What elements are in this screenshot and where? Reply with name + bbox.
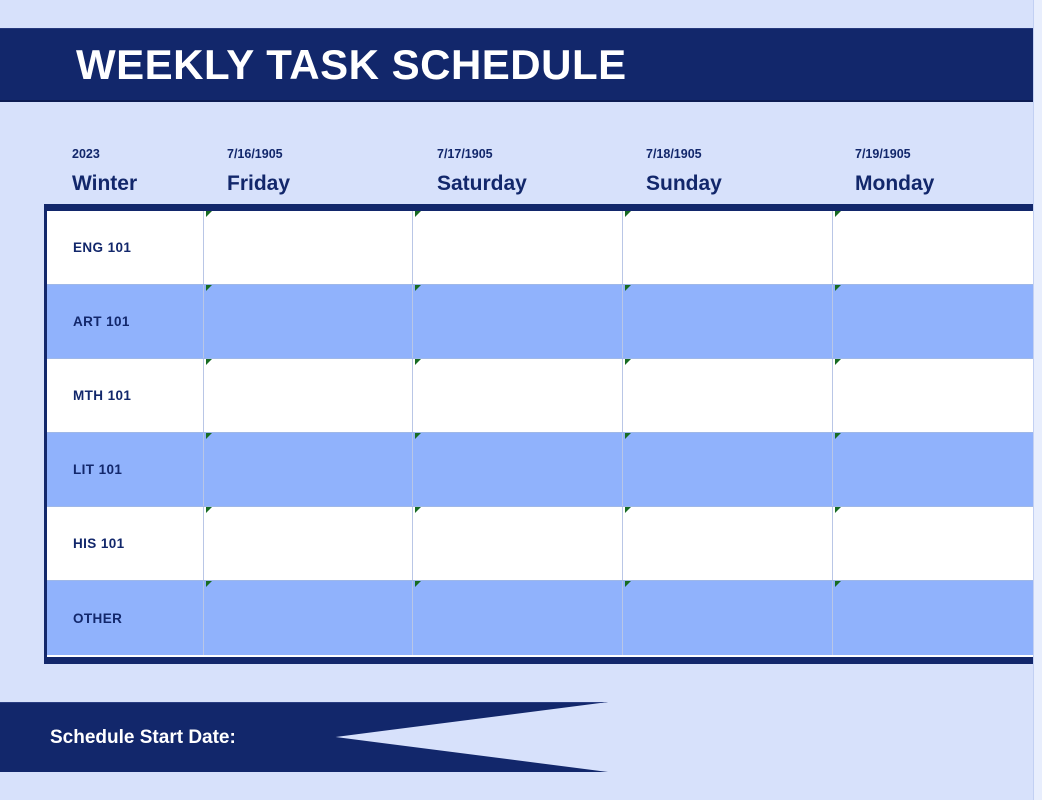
- comment-indicator-icon: [415, 359, 421, 365]
- column-header-label: Monday: [855, 161, 934, 194]
- row-label-other[interactable]: OTHER: [47, 581, 203, 655]
- column-header-sublabel: 7/16/1905: [227, 144, 290, 161]
- table-row[interactable]: HIS 101: [47, 507, 1042, 581]
- column-separator: [622, 433, 623, 506]
- row-label-eng-101[interactable]: ENG 101: [47, 211, 203, 284]
- comment-indicator-icon: [835, 581, 841, 587]
- column-separator: [832, 433, 833, 506]
- column-header-saturday: 7/17/1905Saturday: [437, 144, 527, 202]
- comment-indicator-icon: [625, 433, 631, 439]
- column-header-sublabel: 2023: [72, 144, 137, 161]
- column-separator: [203, 359, 204, 432]
- footer-ribbon: Schedule Start Date: 5/5/2023: [0, 702, 608, 772]
- column-header-label: Winter: [72, 161, 137, 194]
- column-header-row: 2023Winter7/16/1905Friday7/17/1905Saturd…: [44, 144, 1040, 202]
- row-label-mth-101[interactable]: MTH 101: [47, 359, 203, 432]
- comment-indicator-icon: [206, 507, 212, 513]
- comment-indicator-icon: [835, 359, 841, 365]
- slide-canvas: WEEKLY TASK SCHEDULE 2023Winter7/16/1905…: [0, 0, 1042, 800]
- column-separator: [203, 581, 204, 655]
- comment-indicator-icon: [415, 433, 421, 439]
- column-separator: [203, 507, 204, 580]
- column-header-winter: 2023Winter: [72, 144, 137, 202]
- schedule-table[interactable]: ENG 101ART 101MTH 101LIT 101HIS 101OTHER: [44, 204, 1042, 664]
- column-separator: [622, 507, 623, 580]
- column-separator: [622, 285, 623, 358]
- column-separator: [412, 359, 413, 432]
- column-header-label: Saturday: [437, 161, 527, 194]
- column-header-label: Friday: [227, 161, 290, 194]
- schedule-start-date-value[interactable]: 5/5/2023: [409, 727, 483, 749]
- comment-indicator-icon: [415, 581, 421, 587]
- column-header-sublabel: 7/19/1905: [855, 144, 934, 161]
- comment-indicator-icon: [415, 285, 421, 291]
- schedule-start-date-label: Schedule Start Date:: [0, 727, 236, 749]
- comment-indicator-icon: [625, 581, 631, 587]
- right-edge-strip: [1033, 0, 1042, 800]
- comment-indicator-icon: [625, 211, 631, 217]
- column-header-friday: 7/16/1905Friday: [227, 144, 290, 202]
- comment-indicator-icon: [625, 285, 631, 291]
- table-row[interactable]: ART 101: [47, 285, 1042, 359]
- column-header-monday: 7/19/1905Monday: [855, 144, 934, 202]
- column-separator: [832, 211, 833, 284]
- column-separator: [832, 359, 833, 432]
- comment-indicator-icon: [206, 211, 212, 217]
- column-header-label: Sunday: [646, 161, 722, 194]
- row-label-art-101[interactable]: ART 101: [47, 285, 203, 358]
- column-separator: [412, 433, 413, 506]
- row-label-lit-101[interactable]: LIT 101: [47, 433, 203, 506]
- column-separator: [203, 433, 204, 506]
- table-row[interactable]: MTH 101: [47, 359, 1042, 433]
- comment-indicator-icon: [206, 359, 212, 365]
- row-label-his-101[interactable]: HIS 101: [47, 507, 203, 580]
- comment-indicator-icon: [415, 211, 421, 217]
- column-separator: [622, 581, 623, 655]
- column-separator: [203, 211, 204, 284]
- comment-indicator-icon: [835, 507, 841, 513]
- comment-indicator-icon: [206, 581, 212, 587]
- comment-indicator-icon: [415, 507, 421, 513]
- column-separator: [412, 211, 413, 284]
- column-separator: [412, 507, 413, 580]
- comment-indicator-icon: [625, 507, 631, 513]
- comment-indicator-icon: [835, 285, 841, 291]
- column-separator: [832, 507, 833, 580]
- column-separator: [622, 211, 623, 284]
- comment-indicator-icon: [206, 285, 212, 291]
- column-header-sunday: 7/18/1905Sunday: [646, 144, 722, 202]
- column-header-sublabel: 7/18/1905: [646, 144, 722, 161]
- table-row[interactable]: OTHER: [47, 581, 1042, 655]
- comment-indicator-icon: [835, 211, 841, 217]
- title-banner: WEEKLY TASK SCHEDULE: [0, 28, 1034, 102]
- table-row[interactable]: LIT 101: [47, 433, 1042, 507]
- column-separator: [412, 285, 413, 358]
- comment-indicator-icon: [625, 359, 631, 365]
- page-title: WEEKLY TASK SCHEDULE: [0, 44, 627, 86]
- comment-indicator-icon: [206, 433, 212, 439]
- column-header-sublabel: 7/17/1905: [437, 144, 527, 161]
- column-separator: [832, 285, 833, 358]
- column-separator: [622, 359, 623, 432]
- column-separator: [832, 581, 833, 655]
- comment-indicator-icon: [835, 433, 841, 439]
- column-separator: [203, 285, 204, 358]
- column-separator: [412, 581, 413, 655]
- table-row[interactable]: ENG 101: [47, 211, 1042, 285]
